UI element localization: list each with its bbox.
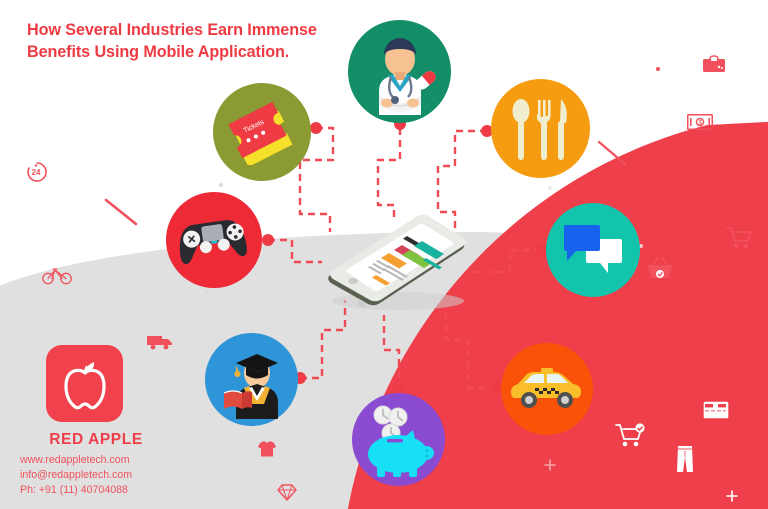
page-title: How Several Industries Earn Immense Bene… xyxy=(27,20,397,64)
accent-diagonal-line xyxy=(595,140,631,170)
industry-node-education[interactable] xyxy=(205,333,298,426)
diamond-icon xyxy=(277,484,297,501)
graduate-icon xyxy=(212,341,292,419)
trousers-icon xyxy=(675,445,695,473)
accent-diagonal-line xyxy=(104,198,140,228)
banknote-icon: $ xyxy=(687,114,713,130)
piggy-bank-icon xyxy=(360,403,438,477)
credit-card-icon xyxy=(703,401,729,419)
clock-24-icon: 24 xyxy=(26,161,48,183)
briefcase-icon xyxy=(702,55,726,75)
bicycle-icon xyxy=(42,265,72,285)
headline-line-2: Benefits Using Mobile Application. xyxy=(27,42,397,64)
brand-name: RED APPLE xyxy=(20,431,172,449)
brand-contact: www.redappletech.com info@redappletech.c… xyxy=(20,453,180,498)
industry-node-banking[interactable] xyxy=(352,393,445,486)
svg-text:24: 24 xyxy=(32,168,41,177)
accent-dot xyxy=(205,291,209,295)
accent-dot xyxy=(219,183,223,187)
shopping-basket-icon xyxy=(647,257,673,281)
headline-line-1: How Several Industries Earn Immense xyxy=(27,20,397,42)
taxi-icon xyxy=(508,366,586,412)
svg-text:$: $ xyxy=(698,120,702,127)
industry-node-communication[interactable] xyxy=(546,203,640,297)
accent-dot xyxy=(656,67,660,71)
cutlery-icon xyxy=(510,96,572,162)
smartphone-mockup xyxy=(318,205,473,320)
brand-website[interactable]: www.redappletech.com xyxy=(20,453,180,468)
shopping-cart-icon xyxy=(726,226,754,250)
industry-node-gaming[interactable] xyxy=(166,192,262,288)
smartphone-isometric-icon xyxy=(318,205,473,315)
brand-logo-block: RED APPLE www.redappletech.com info@reda… xyxy=(20,345,190,498)
brand-email[interactable]: info@redappletech.com xyxy=(20,468,180,483)
chat-bubbles-icon xyxy=(562,223,624,277)
cart-check-icon xyxy=(615,423,647,449)
industry-node-entertainment[interactable]: Tickets xyxy=(213,83,311,181)
brand-phone: Ph: +91 (11) 40704088 xyxy=(20,483,180,498)
plus-icon xyxy=(726,490,738,502)
gamepad-icon xyxy=(176,216,252,264)
ticket-icon: Tickets xyxy=(225,99,299,165)
plus-icon xyxy=(544,459,556,471)
infographic-poster: How Several Industries Earn Immense Bene… xyxy=(0,0,768,509)
apple-logo-mark xyxy=(46,345,123,422)
connector-dot xyxy=(262,234,274,246)
apple-icon xyxy=(60,358,110,410)
industry-node-food[interactable] xyxy=(491,79,590,178)
tshirt-icon xyxy=(257,440,277,458)
connector-dot xyxy=(310,122,322,134)
accent-dot xyxy=(548,186,552,190)
industry-node-transport[interactable] xyxy=(501,343,593,435)
